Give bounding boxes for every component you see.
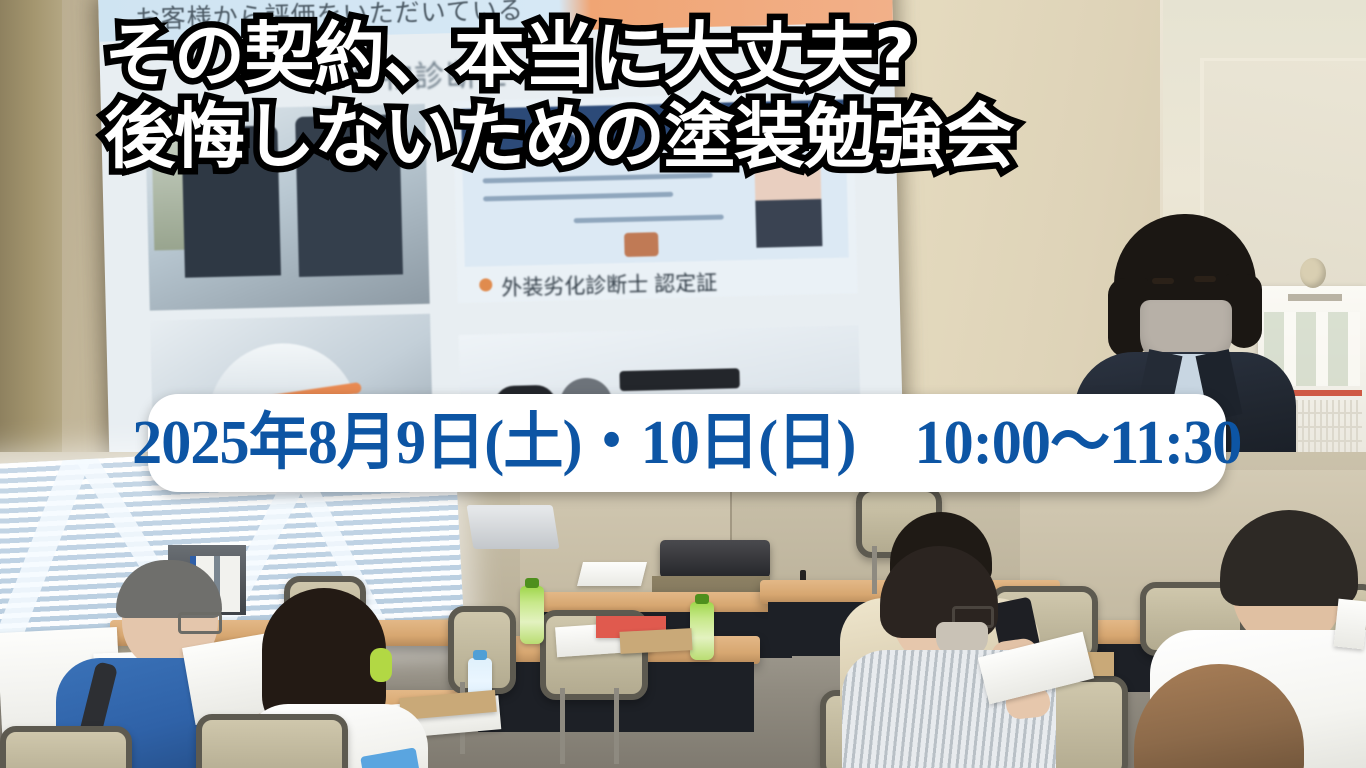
- certificate-line-3: [574, 215, 724, 224]
- clipboard-1: [619, 628, 692, 654]
- paper-stack-back: [577, 562, 647, 586]
- presenter-eye-right: [1194, 276, 1216, 282]
- chair-2-leg: [560, 688, 565, 764]
- chair-foreground-left: [196, 714, 348, 768]
- chair-foreground-far-left: [0, 726, 132, 768]
- certificate-seal: [624, 232, 659, 257]
- screenshot-frame: 4 5 7 8 お客様から評価をいただいている PAOTM 建物診断士: [0, 0, 1366, 768]
- tea-bottle-2: [690, 602, 714, 660]
- attendee-6-hair: [1134, 664, 1304, 768]
- bottle-cap: [473, 650, 487, 660]
- attendee-5-hair: [1220, 510, 1358, 606]
- bottle-cap: [525, 578, 539, 588]
- headline-overlay: その契約、本当に大丈夫? 後悔しないための塗装勉強会: [104, 18, 1104, 175]
- wall-left-edge: [0, 0, 62, 452]
- chair-2-leg-2: [614, 688, 619, 764]
- bottle-cap: [695, 594, 709, 604]
- headline-line-1: その契約、本当に大丈夫?: [104, 14, 914, 97]
- attendee-2-lanyard-tag: [370, 648, 392, 682]
- tool-bar-1: [619, 368, 739, 391]
- certificate-caption: 外装劣化診断士 認定証: [501, 267, 718, 302]
- certificate-line-2: [483, 192, 673, 202]
- attendee-1-glasses: [178, 612, 222, 634]
- attendee-5-handout: [1334, 599, 1366, 650]
- date-time-text: 2025年8月9日(土)・10日(日) 10:00〜11:30: [132, 412, 1241, 474]
- projector: [660, 540, 770, 578]
- headline-line-2: 後悔しないための塗装勉強会: [104, 99, 1104, 175]
- attendee-1-hair: [116, 560, 222, 618]
- certificate-bullet-icon: [479, 278, 492, 291]
- presenter-eye-left: [1152, 278, 1174, 284]
- attendee-brown-hair-front: [1134, 664, 1304, 768]
- wall-hook-ornament: [1300, 258, 1326, 288]
- date-time-banner: 2025年8月9日(土)・10日(日) 10:00〜11:30: [148, 394, 1226, 492]
- tea-bottle-1: [520, 586, 544, 644]
- laptop: [467, 505, 560, 549]
